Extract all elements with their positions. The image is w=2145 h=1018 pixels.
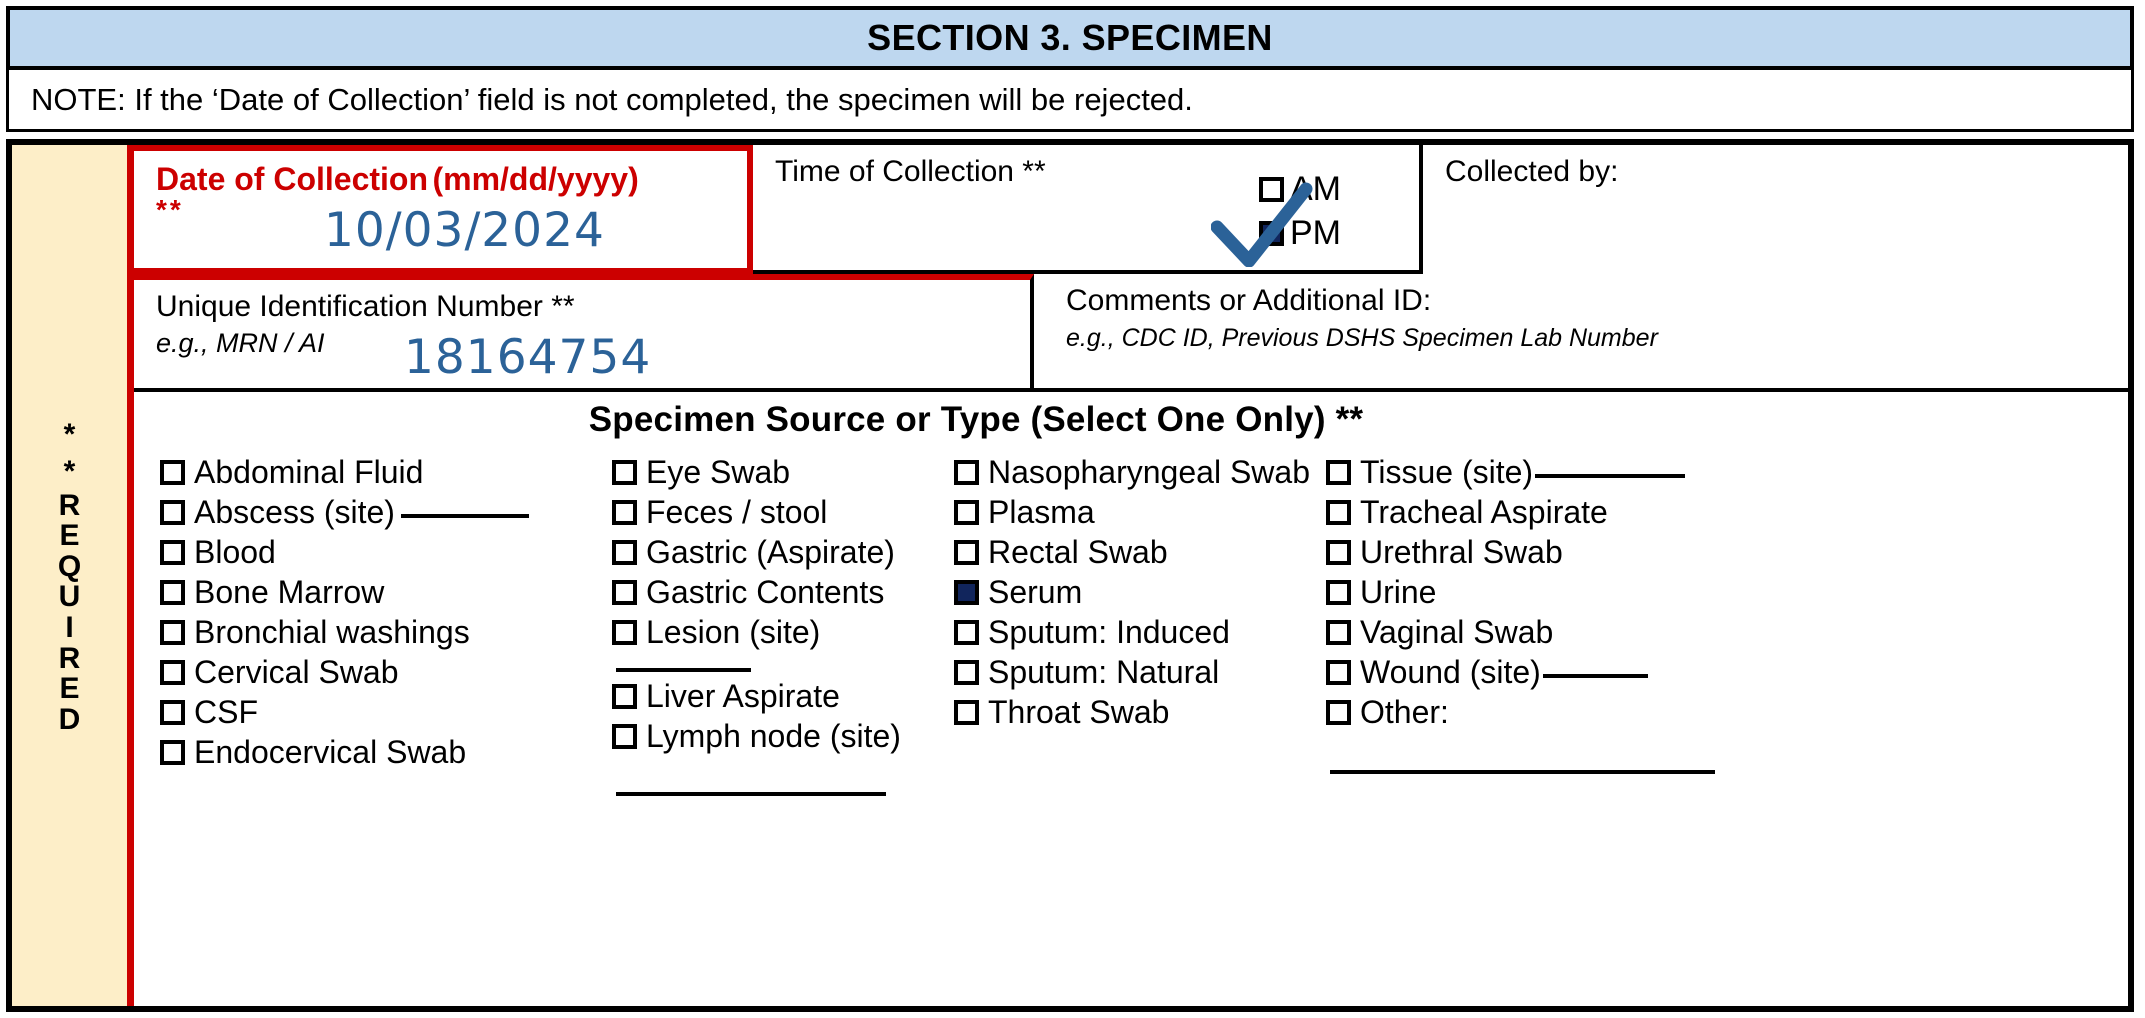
required-letter-e1: E xyxy=(59,521,79,552)
pm-option[interactable]: PM xyxy=(1259,211,1341,255)
specimen-option-abscess[interactable]: Abscess (site) xyxy=(160,494,529,534)
csf-checkbox[interactable] xyxy=(160,700,185,725)
required-asterisk-1: * xyxy=(64,416,76,454)
specimen-option-urine[interactable]: Urine xyxy=(1326,574,1715,614)
specimen-form-page: SECTION 3. SPECIMEN NOTE: If the ‘Date o… xyxy=(0,0,2145,1018)
specimen-option-nasopharyngeal-swab[interactable]: Nasopharyngeal Swab xyxy=(954,454,1310,494)
lymph-node-label: Lymph node (site) xyxy=(646,718,901,754)
comments-example: e.g., CDC ID, Previous DSHS Specimen Lab… xyxy=(1034,324,2128,353)
gastric-aspirate-label: Gastric (Aspirate) xyxy=(646,534,895,570)
plasma-checkbox[interactable] xyxy=(954,500,979,525)
specimen-option-liver-aspirate[interactable]: Liver Aspirate xyxy=(612,678,901,718)
collection-row: Date of Collection (mm/dd/yyyy) ** 10/03… xyxy=(134,145,2128,274)
time-of-collection-label: Time of Collection ** xyxy=(775,155,1046,188)
section-header-banner: SECTION 3. SPECIMEN xyxy=(6,6,2134,70)
vaginal-swab-checkbox[interactable] xyxy=(1326,620,1351,645)
specimen-option-bronchial-washings[interactable]: Bronchial washings xyxy=(160,614,529,654)
wound-checkbox[interactable] xyxy=(1326,660,1351,685)
eye-swab-label: Eye Swab xyxy=(646,454,790,490)
date-of-collection-label: Date of Collection xyxy=(156,161,428,197)
rectal-swab-checkbox[interactable] xyxy=(954,540,979,565)
lymph-node-checkbox[interactable] xyxy=(612,724,637,749)
tracheal-aspirate-label: Tracheal Aspirate xyxy=(1360,494,1608,530)
specimen-option-plasma[interactable]: Plasma xyxy=(954,494,1310,534)
date-of-collection-label-wrap: Date of Collection (mm/dd/yyyy) xyxy=(134,151,747,198)
bronchial-washings-label: Bronchial washings xyxy=(194,614,470,650)
comments-label-wrap: Comments or Additional ID: xyxy=(1034,274,2128,318)
bronchial-washings-checkbox[interactable] xyxy=(160,620,185,645)
lesion-label: Lesion (site) xyxy=(646,614,820,650)
abscess-site-line[interactable] xyxy=(401,514,529,518)
feces-stool-checkbox[interactable] xyxy=(612,500,637,525)
serum-checkbox[interactable] xyxy=(954,580,979,605)
specimen-source-title: Specimen Source or Type (Select One Only… xyxy=(134,392,2128,440)
required-letter-r1: R xyxy=(59,491,81,522)
date-format-hint: (mm/dd/yyyy) xyxy=(432,161,638,197)
abscess-checkbox[interactable] xyxy=(160,500,185,525)
wound-site-line[interactable] xyxy=(1543,674,1648,678)
sputum-induced-checkbox[interactable] xyxy=(954,620,979,645)
tissue-label: Tissue (site) xyxy=(1360,454,1533,490)
specimen-option-cervical-swab[interactable]: Cervical Swab xyxy=(160,654,529,694)
urethral-swab-label: Urethral Swab xyxy=(1360,534,1563,570)
throat-swab-label: Throat Swab xyxy=(988,694,1169,730)
specimen-option-lymph-node[interactable]: Lymph node (site) xyxy=(612,718,901,758)
lesion-site-line[interactable] xyxy=(616,668,751,672)
specimen-grid: * * R E Q U I R E D Date of Collection (… xyxy=(6,139,2134,1012)
unique-id-cell[interactable]: Unique Identification Number ** e.g., MR… xyxy=(134,274,1034,392)
required-letter-e2: E xyxy=(59,674,79,705)
lesion-checkbox[interactable] xyxy=(612,620,637,645)
date-of-collection-value[interactable]: 10/03/2024 xyxy=(324,203,605,258)
rejection-note-row: NOTE: If the ‘Date of Collection’ field … xyxy=(6,70,2134,132)
gastric-aspirate-checkbox[interactable] xyxy=(612,540,637,565)
collected-by-label-wrap: Collected by: xyxy=(1423,145,2128,189)
urethral-swab-checkbox[interactable] xyxy=(1326,540,1351,565)
cervical-swab-label: Cervical Swab xyxy=(194,654,399,690)
serum-label: Serum xyxy=(988,574,1082,610)
other-checkbox[interactable] xyxy=(1326,700,1351,725)
date-of-collection-cell[interactable]: Date of Collection (mm/dd/yyyy) ** 10/03… xyxy=(134,145,753,274)
specimen-option-vaginal-swab[interactable]: Vaginal Swab xyxy=(1326,614,1715,654)
required-letter-d: D xyxy=(59,705,81,736)
wound-label: Wound (site) xyxy=(1360,654,1541,690)
specimen-option-lesion[interactable]: Lesion (site) xyxy=(612,614,901,654)
specimen-column-4: Tissue (site) Tracheal Aspirate Urethral… xyxy=(1326,454,1715,780)
collected-by-cell[interactable]: Collected by: xyxy=(1423,145,2128,274)
blood-label: Blood xyxy=(194,534,276,570)
specimen-source-section: Specimen Source or Type (Select One Only… xyxy=(134,392,2128,1006)
specimen-option-feces-stool[interactable]: Feces / stool xyxy=(612,494,901,534)
tissue-checkbox[interactable] xyxy=(1326,460,1351,485)
am-option[interactable]: AM xyxy=(1259,167,1341,211)
specimen-option-gastric-aspirate[interactable]: Gastric (Aspirate) xyxy=(612,534,901,574)
specimen-option-other[interactable]: Other: xyxy=(1326,694,1715,734)
gastric-contents-label: Gastric Contents xyxy=(646,574,884,610)
specimen-option-bone-marrow[interactable]: Bone Marrow xyxy=(160,574,529,614)
sputum-induced-label: Sputum: Induced xyxy=(988,614,1230,650)
comments-label: Comments or Additional ID: xyxy=(1066,284,1431,317)
cervical-swab-checkbox[interactable] xyxy=(160,660,185,685)
specimen-option-endocervical-swab[interactable]: Endocervical Swab xyxy=(160,734,529,774)
rejection-note-text: NOTE: If the ‘Date of Collection’ field … xyxy=(9,82,1193,118)
required-letter-u: U xyxy=(59,582,81,613)
pm-label: PM xyxy=(1290,214,1341,253)
specimen-option-serum[interactable]: Serum xyxy=(954,574,1310,614)
lymph-node-site-line[interactable] xyxy=(616,792,886,796)
specimen-option-eye-swab[interactable]: Eye Swab xyxy=(612,454,901,494)
specimen-column-1: Abdominal Fluid Abscess (site) Blood xyxy=(160,454,529,774)
vaginal-swab-label: Vaginal Swab xyxy=(1360,614,1553,650)
blood-checkbox[interactable] xyxy=(160,540,185,565)
collected-by-label: Collected by: xyxy=(1445,155,1618,188)
unique-id-label: Unique Identification Number ** xyxy=(156,290,575,323)
specimen-option-abdominal-fluid[interactable]: Abdominal Fluid xyxy=(160,454,529,494)
identification-row: Unique Identification Number ** e.g., MR… xyxy=(134,274,2128,392)
urine-label: Urine xyxy=(1360,574,1436,610)
specimen-option-wound[interactable]: Wound (site) xyxy=(1326,654,1715,694)
liver-aspirate-label: Liver Aspirate xyxy=(646,678,840,714)
specimen-option-gastric-contents[interactable]: Gastric Contents xyxy=(612,574,901,614)
eye-swab-checkbox[interactable] xyxy=(612,460,637,485)
specimen-option-rectal-swab[interactable]: Rectal Swab xyxy=(954,534,1310,574)
abdominal-fluid-checkbox[interactable] xyxy=(160,460,185,485)
am-pm-group[interactable]: AM PM xyxy=(1259,167,1341,255)
unique-id-value[interactable]: 18164754 xyxy=(404,330,651,385)
specimen-option-throat-swab[interactable]: Throat Swab xyxy=(954,694,1310,734)
nasopharyngeal-swab-label: Nasopharyngeal Swab xyxy=(988,454,1310,490)
specimen-column-2: Eye Swab Feces / stool Gastric (Aspirate… xyxy=(612,454,901,802)
am-checkbox[interactable] xyxy=(1259,177,1284,202)
required-letter-q: Q xyxy=(58,552,81,583)
liver-aspirate-checkbox[interactable] xyxy=(612,684,637,709)
specimen-column-3: Nasopharyngeal Swab Plasma Rectal Swab xyxy=(954,454,1310,734)
tissue-site-line[interactable] xyxy=(1535,474,1685,478)
bone-marrow-checkbox[interactable] xyxy=(160,580,185,605)
sputum-natural-label: Sputum: Natural xyxy=(988,654,1219,690)
feces-stool-label: Feces / stool xyxy=(646,494,827,530)
required-strip: * * R E Q U I R E D xyxy=(12,145,134,1006)
specimen-option-sputum-induced[interactable]: Sputum: Induced xyxy=(954,614,1310,654)
sputum-natural-checkbox[interactable] xyxy=(954,660,979,685)
gastric-contents-checkbox[interactable] xyxy=(612,580,637,605)
nasopharyngeal-swab-checkbox[interactable] xyxy=(954,460,979,485)
abscess-label: Abscess (site) xyxy=(194,494,395,530)
required-asterisk-2: * xyxy=(64,453,76,491)
specimen-source-columns: Abdominal Fluid Abscess (site) Blood xyxy=(134,454,2128,1006)
rectal-swab-label: Rectal Swab xyxy=(988,534,1168,570)
form-content: Date of Collection (mm/dd/yyyy) ** 10/03… xyxy=(134,145,2128,1006)
required-letter-r2: R xyxy=(59,644,81,675)
section-title: SECTION 3. SPECIMEN xyxy=(867,17,1273,59)
specimen-option-urethral-swab[interactable]: Urethral Swab xyxy=(1326,534,1715,574)
endocervical-swab-checkbox[interactable] xyxy=(160,740,185,765)
pm-checkbox[interactable] xyxy=(1259,221,1284,246)
urine-checkbox[interactable] xyxy=(1326,580,1351,605)
specimen-option-tracheal-aspirate[interactable]: Tracheal Aspirate xyxy=(1326,494,1715,534)
tracheal-aspirate-checkbox[interactable] xyxy=(1326,500,1351,525)
comments-cell[interactable]: Comments or Additional ID: e.g., CDC ID,… xyxy=(1034,274,2128,392)
abdominal-fluid-label: Abdominal Fluid xyxy=(194,454,423,490)
other-label: Other: xyxy=(1360,694,1449,730)
endocervical-swab-label: Endocervical Swab xyxy=(194,734,466,770)
specimen-option-blood[interactable]: Blood xyxy=(160,534,529,574)
throat-swab-checkbox[interactable] xyxy=(954,700,979,725)
unique-id-label-wrap: Unique Identification Number ** xyxy=(134,280,1030,324)
specimen-option-csf[interactable]: CSF xyxy=(160,694,529,734)
csf-label: CSF xyxy=(194,694,258,730)
specimen-option-sputum-natural[interactable]: Sputum: Natural xyxy=(954,654,1310,694)
other-specify-line[interactable] xyxy=(1330,770,1715,774)
plasma-label: Plasma xyxy=(988,494,1095,530)
specimen-option-tissue[interactable]: Tissue (site) xyxy=(1326,454,1715,494)
time-of-collection-cell[interactable]: Time of Collection ** AM PM xyxy=(753,145,1423,274)
required-letter-i: I xyxy=(65,613,73,644)
am-label: AM xyxy=(1290,170,1341,209)
bone-marrow-label: Bone Marrow xyxy=(194,574,384,610)
